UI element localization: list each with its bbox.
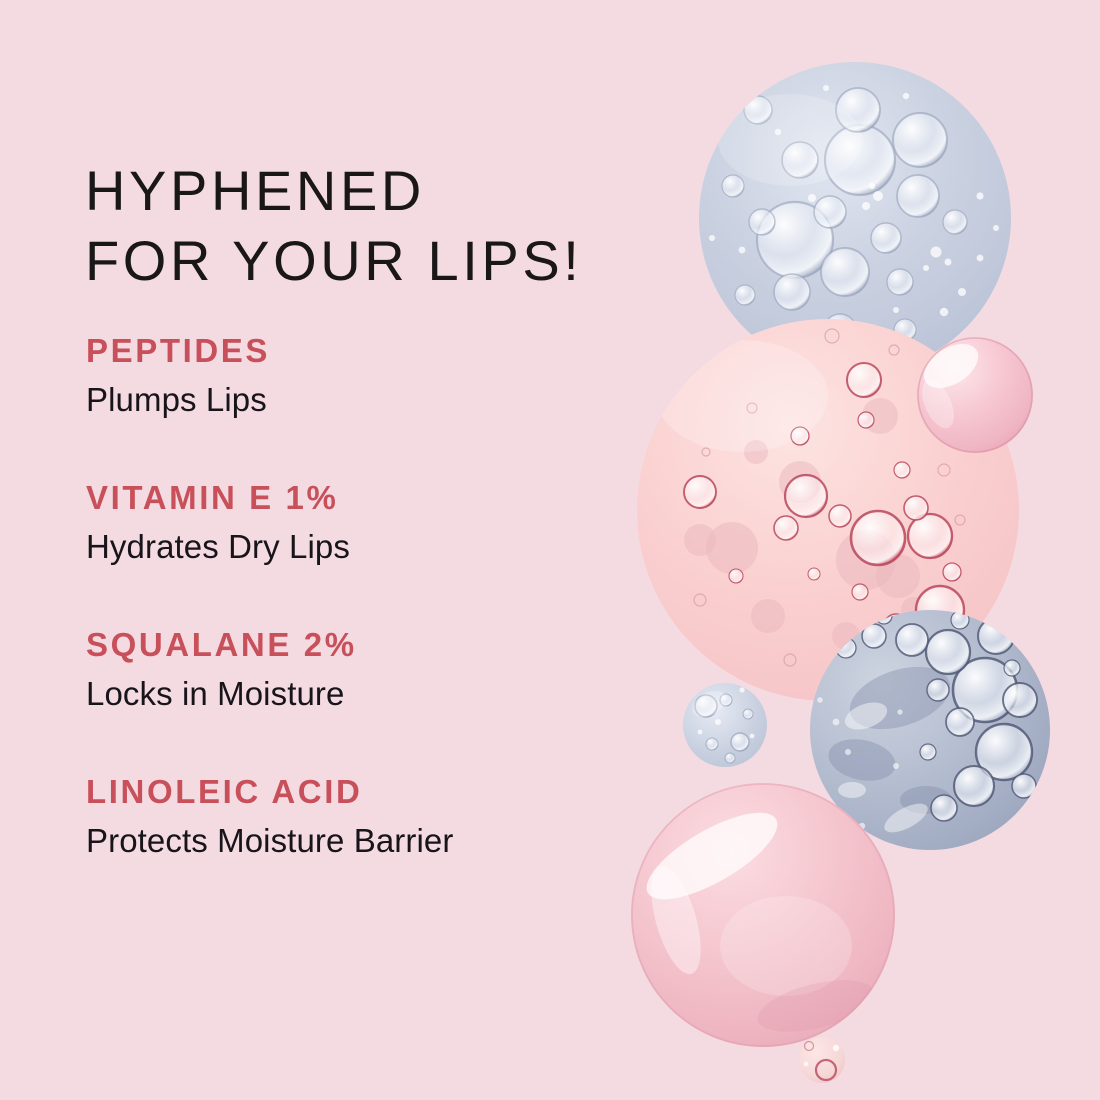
ingredient-name: LINOLEIC ACID [86,771,646,813]
ingredient-benefit: Protects Moisture Barrier [86,820,646,862]
ingredient-benefit: Plumps Lips [86,379,646,421]
ingredient-name: SQUALANE 2% [86,624,646,666]
ingredient-name: VITAMIN E 1% [86,477,646,519]
list-item-linoleic-acid: LINOLEIC ACID Protects Moisture Barrier [86,771,646,862]
poster-content: HYPHENED FOR YOUR LIPS! PEPTIDES Plumps … [0,0,1100,1100]
ingredient-list: PEPTIDES Plumps Lips VITAMIN E 1% Hydrat… [86,330,646,862]
product-infographic-poster: HYPHENED FOR YOUR LIPS! PEPTIDES Plumps … [0,0,1100,1100]
ingredient-benefit: Hydrates Dry Lips [86,526,646,568]
ingredient-benefit: Locks in Moisture [86,673,646,715]
list-item-peptides: PEPTIDES Plumps Lips [86,330,646,421]
list-item-vitamin-e: VITAMIN E 1% Hydrates Dry Lips [86,477,646,568]
ingredient-name: PEPTIDES [86,330,646,372]
page-title: HYPHENED FOR YOUR LIPS! [85,156,685,296]
list-item-squalane: SQUALANE 2% Locks in Moisture [86,624,646,715]
